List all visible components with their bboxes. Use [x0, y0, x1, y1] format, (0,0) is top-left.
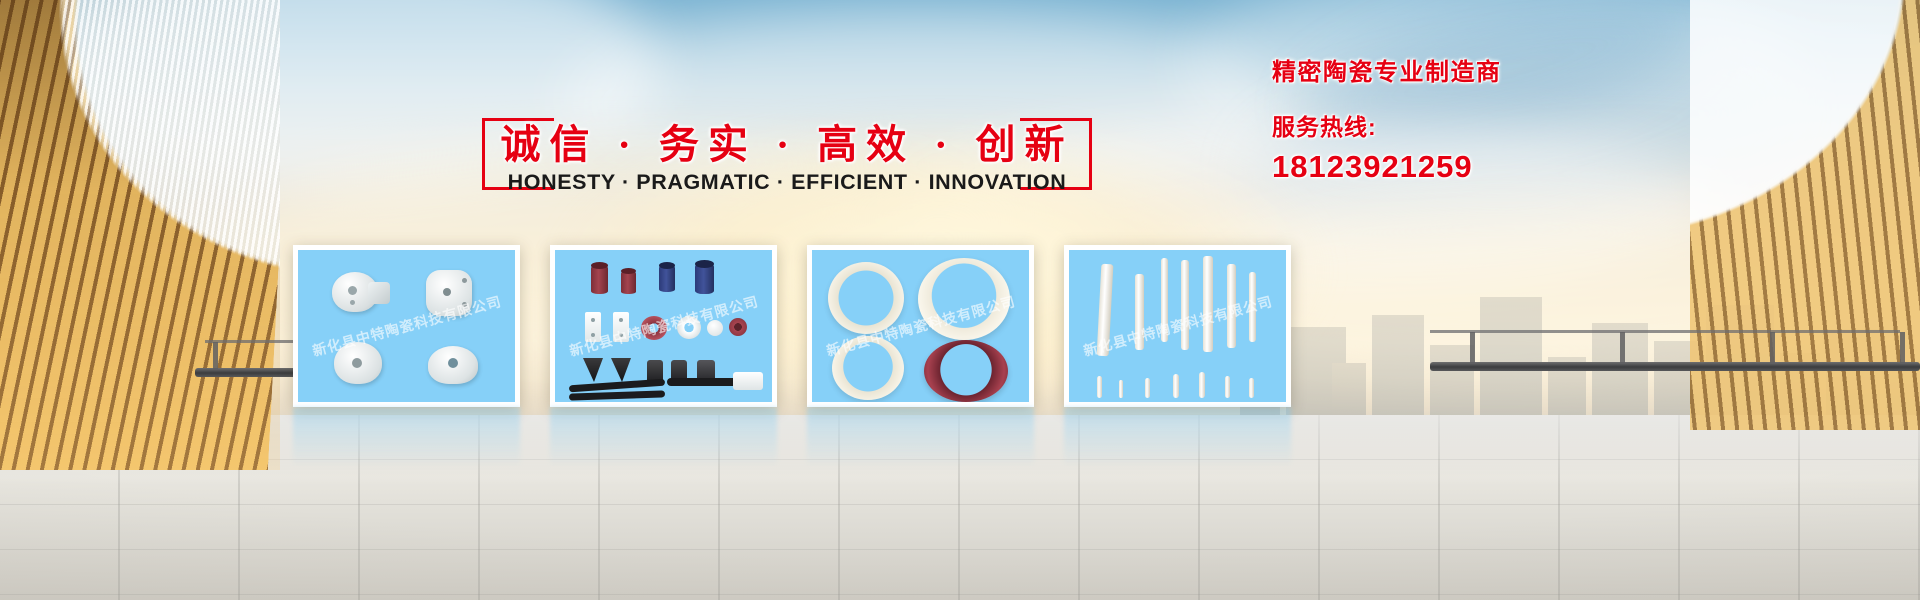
hero-banner: 诚信 · 务实 · 高效 · 创新 HONESTY · PRAGMATIC · … — [0, 0, 1920, 600]
product-panel[interactable]: 新化县中特陶瓷科技有限公司 — [807, 245, 1034, 407]
slogan-english: HONESTY · PRAGMATIC · EFFICIENT · INNOVA… — [482, 170, 1092, 195]
slogan-chinese: 诚信 · 务实 · 高效 · 创新 — [482, 112, 1092, 170]
hotline-number[interactable]: 18123921259 — [1272, 149, 1692, 185]
product-panel[interactable]: 新化县中特陶瓷科技有限公司 — [293, 245, 520, 407]
contact-block: 精密陶瓷专业制造商 服务热线: 18123921259 — [1272, 52, 1692, 185]
product-panel-strip: 新化县中特陶瓷科技有限公司 — [293, 245, 1293, 407]
canopy-white-edge — [0, 0, 280, 470]
left-canopy-structure — [0, 0, 330, 470]
canopy-white-edge — [1690, 0, 1920, 430]
product-panel[interactable]: 新化县中特陶瓷科技有限公司 — [550, 245, 777, 407]
hotline-label: 服务热线: — [1272, 108, 1692, 142]
right-canopy-structure — [1690, 0, 1920, 430]
product-photo: 新化县中特陶瓷科技有限公司 — [555, 250, 772, 402]
product-photo: 新化县中特陶瓷科技有限公司 — [298, 250, 515, 402]
company-tagline: 精密陶瓷专业制造商 — [1272, 52, 1692, 87]
slogan-block: 诚信 · 务实 · 高效 · 创新 HONESTY · PRAGMATIC · … — [482, 118, 1092, 202]
product-panel[interactable]: 新化县中特陶瓷科技有限公司 — [1064, 245, 1291, 407]
product-photo: 新化县中特陶瓷科技有限公司 — [812, 250, 1029, 402]
product-photo: 新化县中特陶瓷科技有限公司 — [1069, 250, 1286, 402]
